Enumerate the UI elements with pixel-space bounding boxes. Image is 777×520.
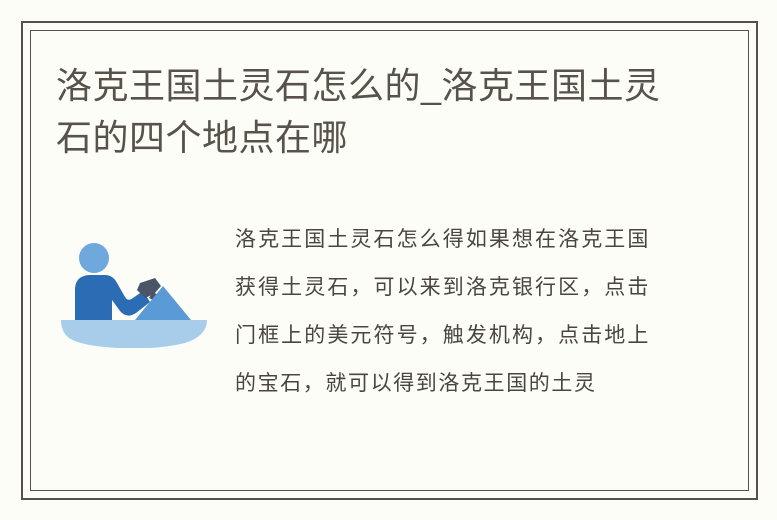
rider-body-icon [75, 275, 150, 320]
article-paragraph: 洛克王国土灵石怎么得如果想在洛克王国获得土灵石，可以来到洛克银行区，点击门框上的… [235, 215, 650, 407]
page-title: 洛克王国土灵石怎么的_洛克王国土灵石的四个地点在哪 [56, 60, 696, 164]
article-card: 洛克王国土灵石怎么的_洛克王国土灵石的四个地点在哪 洛克王国土灵石 [21, 21, 758, 500]
article-body-row: 洛克王国土灵石怎么得如果想在洛克王国获得土灵石，可以来到洛克银行区，点击门框上的… [23, 193, 756, 498]
rider-head-icon [79, 243, 109, 273]
hull-icon [61, 320, 207, 348]
article-content: 洛克王国土灵石怎么的_洛克王国土灵石的四个地点在哪 洛克王国土灵石 [23, 23, 756, 498]
jet-ski-rider-illustration [57, 228, 217, 348]
